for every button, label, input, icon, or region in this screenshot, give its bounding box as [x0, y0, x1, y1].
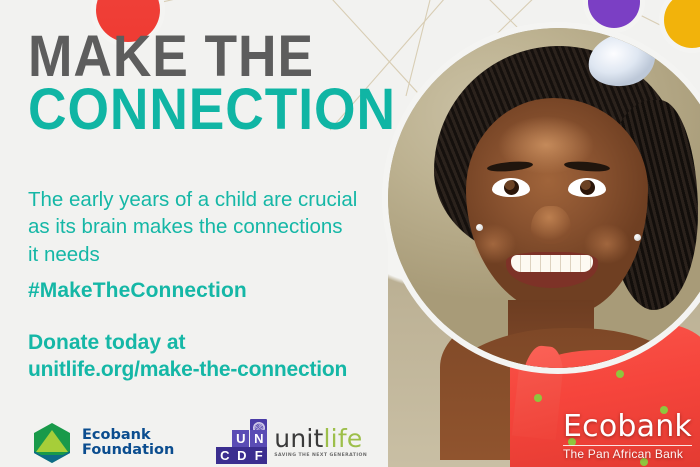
page-title: MAKE THE CONNECTION [28, 30, 396, 137]
eye-right [568, 178, 606, 197]
uncdf-block-c: C [216, 447, 233, 464]
donate-url-link[interactable]: unitlife.org/make-the-connection [28, 357, 347, 384]
dress-dot [534, 394, 542, 402]
teeth [511, 255, 593, 272]
eye-left [492, 178, 530, 197]
ecobank-watermark-name: Ecobank [563, 412, 692, 442]
ecobank-watermark-rule [563, 445, 692, 446]
uncdf-block-u: U [232, 430, 249, 447]
donate-call-label: Donate today at [28, 331, 186, 354]
ecobank-hexagon-icon [30, 421, 74, 465]
uncdf-block-n: N [250, 430, 267, 447]
headline-line-2: CONNECTION [28, 83, 396, 136]
subheadline: The early years of a child are crucial a… [28, 186, 358, 268]
nose [531, 206, 571, 244]
ecobank-watermark: Ecobank The Pan African Bank [563, 412, 692, 461]
ecobank-watermark-tagline: The Pan African Bank [563, 448, 692, 461]
purple-dot-icon [588, 0, 640, 28]
earring-right [634, 234, 641, 241]
ecobank-foundation-wordmark: Ecobank Foundation [82, 428, 174, 458]
unitlife-part-1: unit [274, 424, 323, 453]
dress-dot [616, 370, 624, 378]
campaign-hashtag: #MakeTheConnection [28, 279, 247, 303]
uncdf-block-d: D [233, 447, 250, 464]
sponsor-logo-strip: Ecobank Foundation U N C D F unitlife SA… [30, 419, 367, 465]
earring-left [476, 224, 483, 231]
uncdf-unitlife-logo: U N C D F unitlife SAVING THE NEXT GENER… [216, 419, 367, 465]
headline-line-1: MAKE THE [28, 30, 396, 83]
dress-dot [664, 364, 672, 368]
ecobank-line-1: Ecobank [82, 428, 174, 443]
portrait-photo [388, 28, 700, 368]
unitlife-tagline: SAVING THE NEXT GENERATION [274, 454, 367, 459]
ecobank-foundation-logo: Ecobank Foundation [30, 421, 174, 465]
campaign-poster: Ecobank The Pan African Bank MAKE THE CO… [0, 0, 700, 467]
unitlife-wordmark: unitlife SAVING THE NEXT GENERATION [274, 426, 367, 459]
poster-content: MAKE THE CONNECTION The early years of a… [28, 0, 428, 467]
donate-callout: Donate today at unitlife.org/make-the-co… [28, 330, 347, 384]
ecobank-line-2: Foundation [82, 443, 174, 458]
unitlife-part-2: life [324, 424, 363, 453]
uncdf-block-f: F [250, 447, 267, 464]
uncdf-blocks-icon: U N C D F [216, 419, 268, 465]
